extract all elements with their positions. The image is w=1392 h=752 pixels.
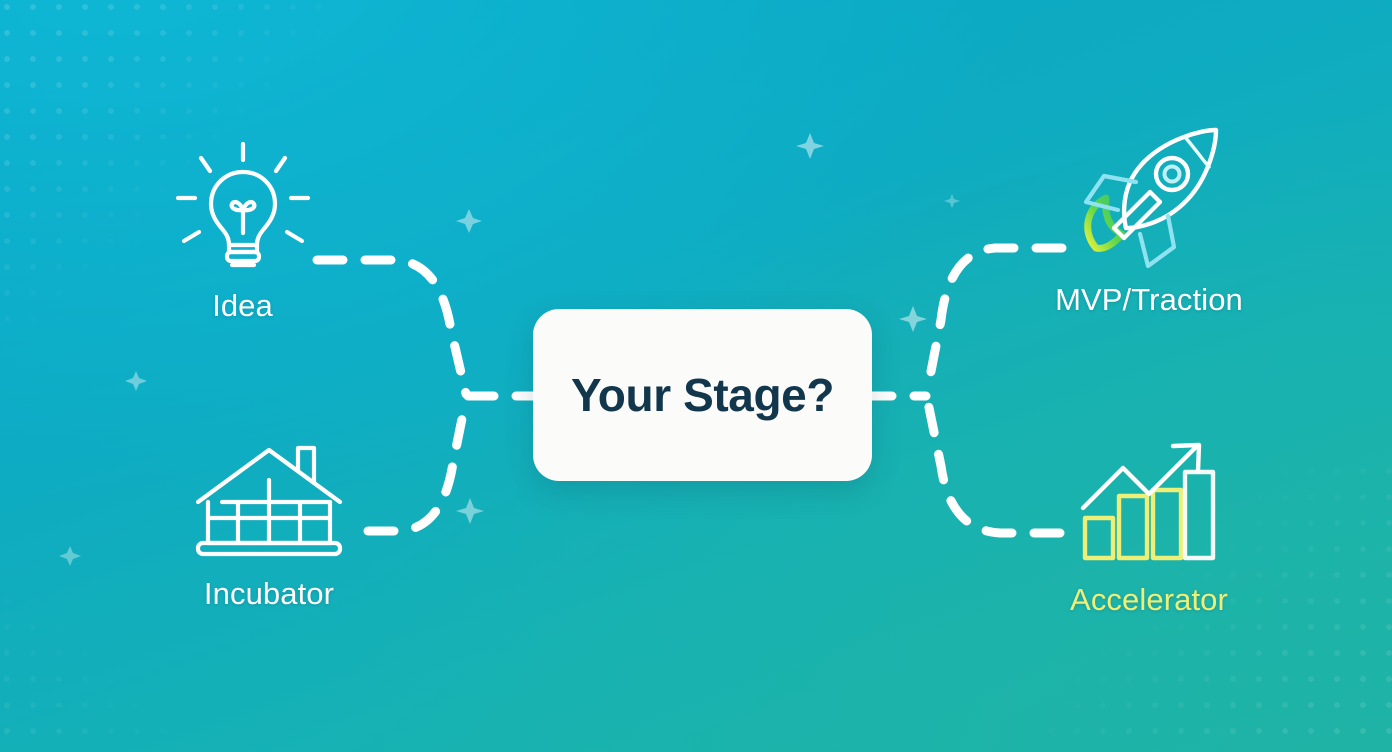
infographic-canvas: Idea Incubator <box>0 0 1392 752</box>
growth-chart-icon <box>1077 440 1222 568</box>
node-idea[interactable]: Idea <box>130 138 355 324</box>
center-card-title: Your Stage? <box>571 368 834 422</box>
node-mvp[interactable]: MVP/Traction <box>1015 120 1283 318</box>
lightbulb-icon <box>168 138 318 278</box>
node-incubator-label: Incubator <box>155 576 383 612</box>
rocket-icon <box>1064 120 1234 270</box>
node-accelerator-label: Accelerator <box>1040 582 1258 618</box>
node-accelerator[interactable]: Accelerator <box>1040 440 1258 618</box>
node-incubator[interactable]: Incubator <box>155 440 383 612</box>
node-idea-label: Idea <box>130 288 355 324</box>
greenhouse-icon <box>188 440 350 562</box>
node-mvp-label: MVP/Traction <box>1015 282 1283 318</box>
center-card[interactable]: Your Stage? <box>533 309 872 481</box>
